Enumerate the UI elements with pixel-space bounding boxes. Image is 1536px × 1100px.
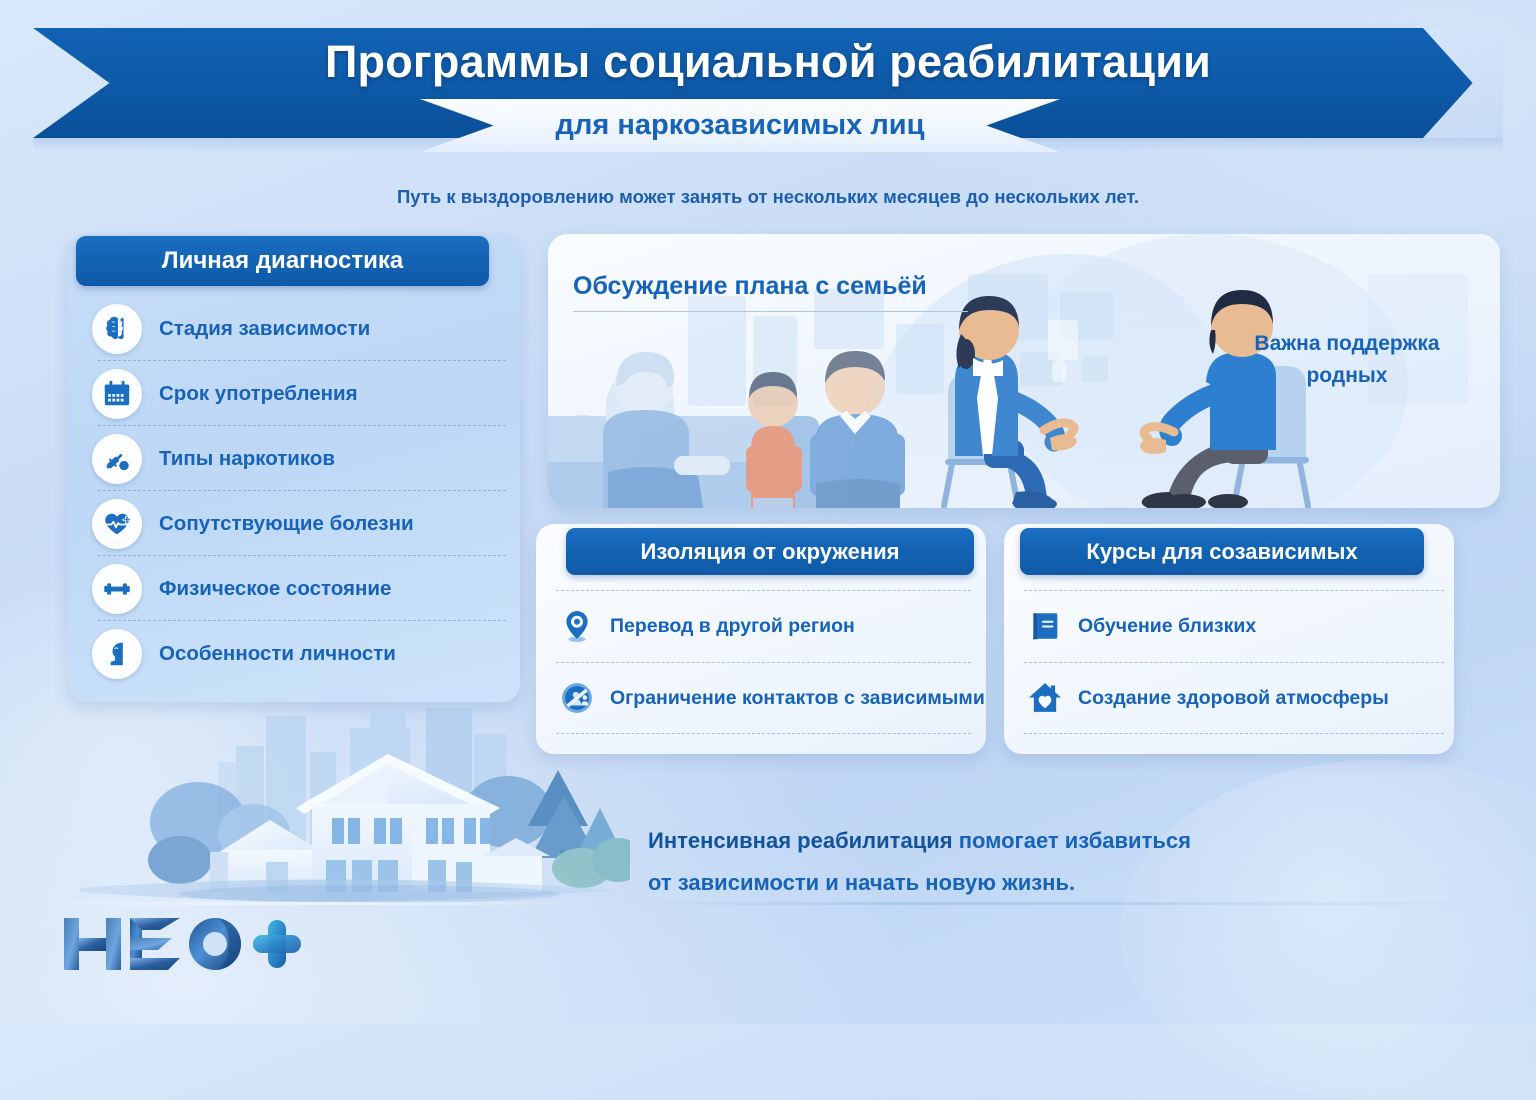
brand-logo[interactable] [62,912,312,974]
list-item-label: Физическое состояние [159,577,391,601]
head-profile-icon [92,629,142,679]
list-item-label: Создание здоровой атмосферы [1078,687,1389,710]
family-discussion-title: Обсуждение плана с семьёй [573,272,973,301]
neighborhood-illustration [70,700,630,915]
house-heart-icon [1024,681,1066,715]
logo-letter-o [189,918,241,970]
footer-statement: Интенсивная реабилитация помогает избави… [648,820,1408,904]
family-support-note: Важна поддержка родных [1222,328,1472,391]
list-item-label: Сопутствующие болезни [159,512,414,536]
codependents-card-title: Курсы для созависимых [1020,528,1424,575]
list-item-label: Перевод в другой регион [610,615,855,638]
dumbbell-icon [92,564,142,614]
page-title: Программы социальной реабилитации [0,36,1536,88]
syringe-icon [92,434,142,484]
location-pin-icon [556,609,598,643]
list-item[interactable]: Срок употребления [68,361,520,426]
list-item[interactable]: Физическое состояние [68,556,520,621]
book-icon [1024,609,1066,643]
footer-strong: Интенсивная реабилитация [648,828,953,853]
list-item-label: Срок употребления [159,382,358,406]
heart-plus-icon [92,499,142,549]
list-item-label: Обучение близких [1078,615,1256,638]
list-item[interactable]: Стадия зависимости [68,296,520,361]
footer-line-1: Интенсивная реабилитация помогает избави… [648,820,1408,862]
ambient-blob-right [1120,760,1536,1100]
diagnostics-list: Стадия зависимости Срок употребления Тип… [68,296,520,686]
title-divider [573,311,968,312]
list-item-label: Типы наркотиков [159,447,335,471]
list-item[interactable]: Перевод в другой регион [556,590,971,662]
calendar-icon [92,369,142,419]
codependents-list: Обучение близких Создание здоровой атмос… [1024,590,1444,734]
logo-letter-e [130,918,180,970]
list-item[interactable]: Типы наркотиков [68,426,520,491]
isolation-card-title: Изоляция от окружения [566,528,974,575]
list-item-label: Ограничение контактов с зависимыми [610,687,985,710]
brain-icon [92,304,142,354]
footer-line-2: от зависимости и начать новую жизнь. [648,862,1408,904]
bottom-sweep-line [0,902,1536,905]
page-subtitle: для наркозависимых лиц [420,99,1060,152]
list-item-label: Стадия зависимости [159,317,370,341]
list-item[interactable]: Создание здоровой атмосферы [1024,662,1444,734]
lead-text: Путь к выздоровлению может занять от нес… [0,186,1536,208]
diagnostics-panel-title: Личная диагностика [76,236,489,286]
footer-rest: помогает избавиться [953,828,1191,853]
list-item[interactable]: Особенности личности [68,621,520,686]
list-item[interactable]: Сопутствующие болезни [68,491,520,556]
logo-plus-icon [253,920,301,968]
logo-letter-n [64,918,121,970]
list-item-label: Особенности личности [159,642,396,666]
list-item[interactable]: Обучение близких [1024,590,1444,662]
infographic-canvas: Программы социальной реабилитации для на… [0,0,1536,1024]
